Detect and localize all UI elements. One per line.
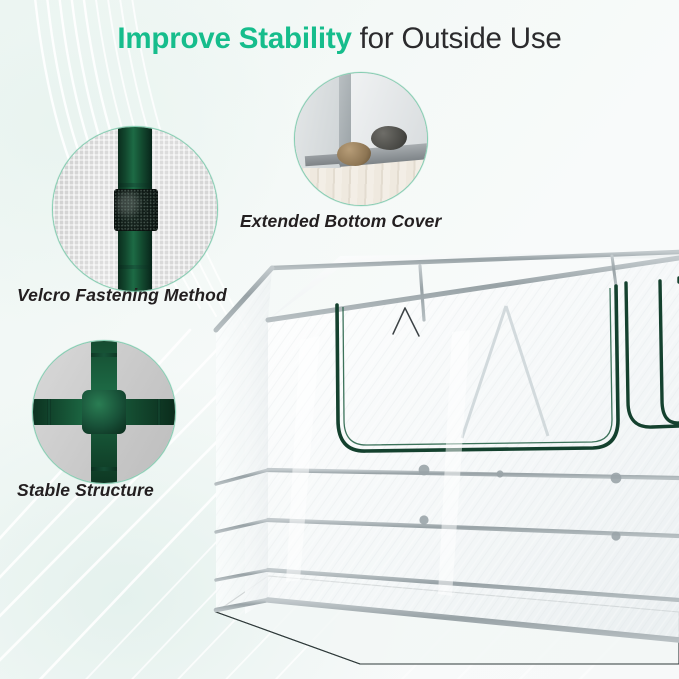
feature-label-stable-structure: Stable Structure <box>17 480 154 501</box>
weight-rock-dark <box>371 126 407 150</box>
feature-label-velcro: Velcro Fastening Method <box>17 285 227 306</box>
cross-connector-detail-photo <box>32 340 176 484</box>
feature-label-bottom-cover: Extended Bottom Cover <box>240 211 441 232</box>
weight-rock-light <box>337 142 371 166</box>
infographic-canvas: Improve Stability for Outside Use <box>0 0 679 679</box>
bottom-cover-detail-photo <box>294 72 428 206</box>
velcro-detail-photo <box>52 126 218 292</box>
